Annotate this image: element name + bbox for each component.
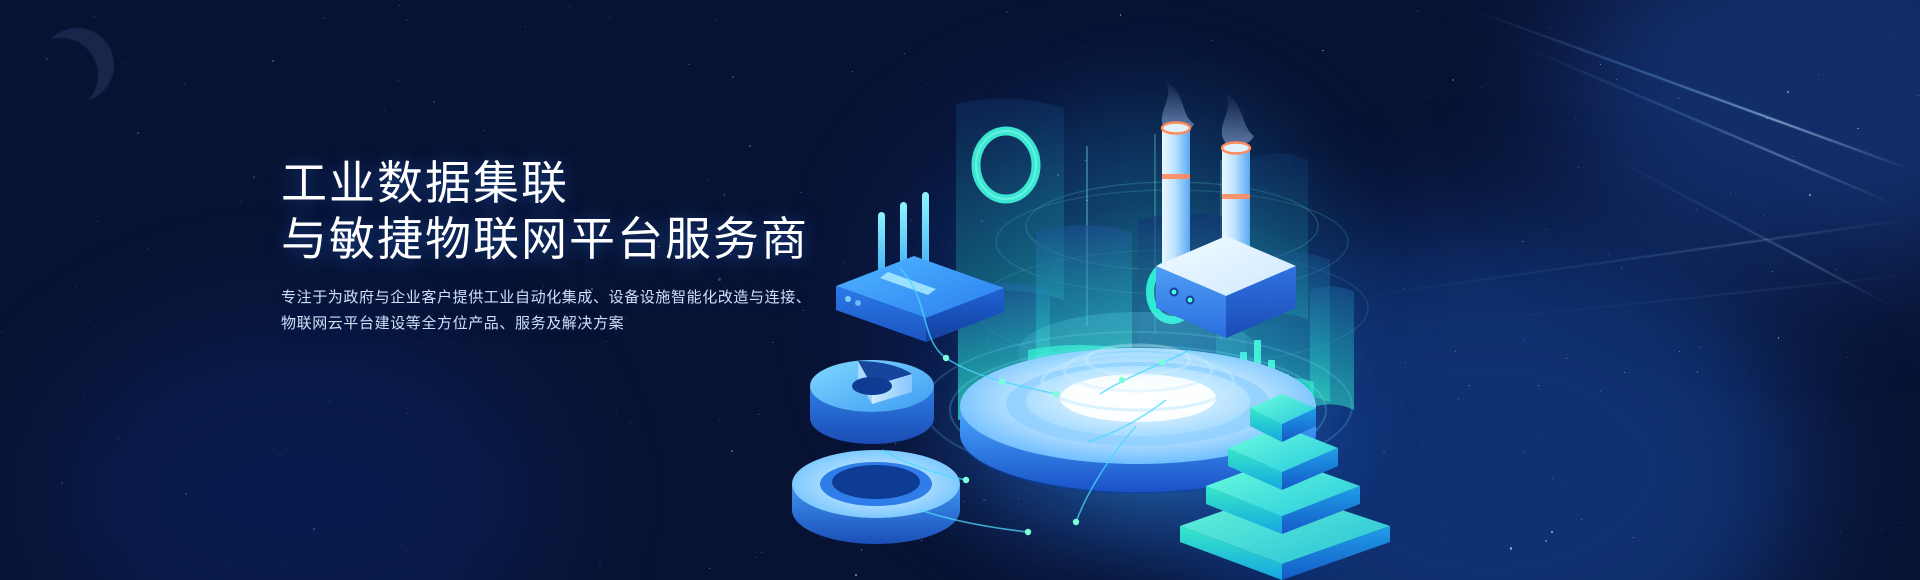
- hero-illustration: [770, 0, 1920, 580]
- hero-subtitle: 专注于为政府与企业客户提供工业自动化集成、设备设施智能化改造与连接、 物联网云平…: [281, 285, 841, 337]
- hero-subtitle-line-1: 专注于为政府与企业客户提供工业自动化集成、设备设施智能化改造与连接、: [281, 285, 841, 311]
- hero-heading-line-1: 工业数据集联: [281, 155, 841, 211]
- nebula-glow-left: [60, 330, 540, 580]
- hero-heading-line-2: 与敏捷物联网平台服务商: [281, 211, 841, 267]
- hero-copy: 工业数据集联 与敏捷物联网平台服务商 专注于为政府与企业客户提供工业自动化集成、…: [281, 155, 841, 337]
- hero-subtitle-line-2: 物联网云平台建设等全方位产品、服务及解决方案: [281, 311, 841, 337]
- moon-icon: [40, 28, 114, 102]
- connection-lines: [770, 150, 1470, 580]
- hero-banner: 工业数据集联 与敏捷物联网平台服务商 专注于为政府与企业客户提供工业自动化集成、…: [0, 0, 1920, 580]
